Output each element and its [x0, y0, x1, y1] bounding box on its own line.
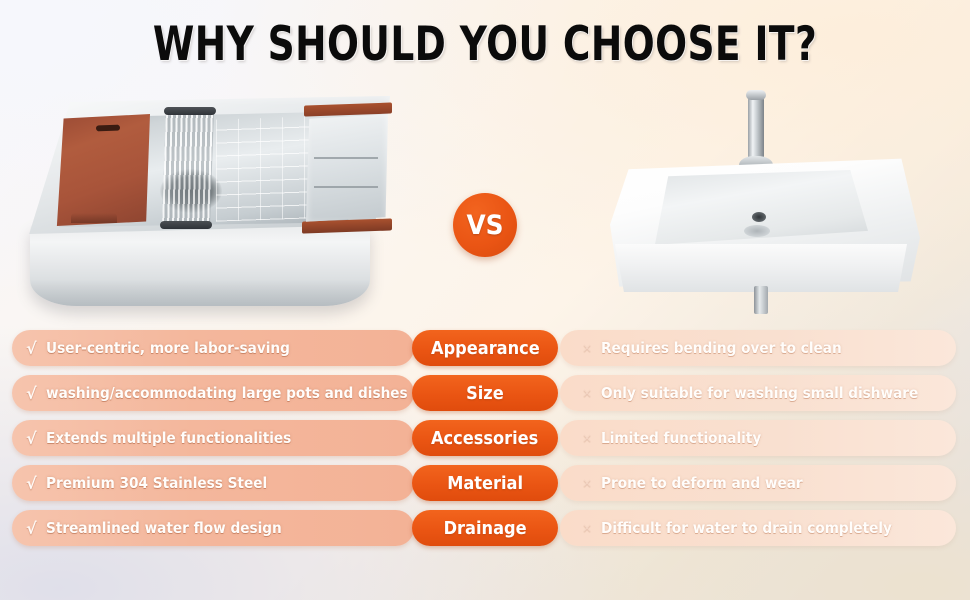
product-image-stainless-sink: [18, 96, 390, 308]
comparison-row: √ Streamlined water flow design Drainage…: [0, 510, 970, 555]
check-icon: √: [26, 384, 37, 403]
wooden-cutting-board: [54, 114, 150, 226]
pro-bar: √ washing/accommodating large pots and d…: [12, 375, 414, 411]
pro-text: Premium 304 Stainless Steel: [46, 474, 267, 492]
con-text: Requires bending over to clean: [601, 339, 842, 357]
category-pill: Size: [412, 375, 558, 411]
roll-up-drying-rack: [162, 110, 214, 226]
check-icon: √: [26, 474, 37, 493]
category-pill: Appearance: [412, 330, 558, 366]
con-text: Difficult for water to drain completely: [601, 519, 892, 537]
page-title: WHY SHOULD YOU CHOOSE IT?: [97, 17, 873, 72]
con-bar: × Requires bending over to clean: [560, 330, 956, 366]
category-label: Drainage: [444, 518, 527, 539]
colander-accessory: [306, 112, 388, 224]
pro-bar: √ Streamlined water flow design: [12, 510, 414, 546]
pro-bar: √ User-centric, more labor-saving: [12, 330, 414, 366]
pro-text: Streamlined water flow design: [46, 519, 282, 537]
check-icon: √: [26, 429, 37, 448]
comparison-table: √ User-centric, more labor-saving Appear…: [0, 330, 970, 555]
faucet-cap: [746, 90, 766, 100]
overflow-hole: [752, 212, 766, 222]
category-label: Accessories: [431, 428, 538, 449]
cross-icon: ×: [582, 386, 592, 400]
vs-badge: VS: [453, 193, 517, 257]
bottom-grid: [216, 116, 310, 221]
con-text: Limited functionality: [601, 429, 761, 447]
cross-icon: ×: [582, 521, 592, 535]
pro-text: Extends multiple functionalities: [46, 429, 291, 447]
category-label: Material: [447, 473, 523, 494]
comparison-row: √ Premium 304 Stainless Steel Material ×…: [0, 465, 970, 510]
con-bar: × Limited functionality: [560, 420, 956, 456]
con-bar: × Only suitable for washing small dishwa…: [560, 375, 956, 411]
pro-text: User-centric, more labor-saving: [46, 339, 290, 357]
cross-icon: ×: [582, 341, 592, 355]
category-label: Appearance: [431, 338, 540, 359]
category-pill: Material: [412, 465, 558, 501]
con-text: Only suitable for washing small dishware: [601, 384, 918, 402]
pro-bar: √ Premium 304 Stainless Steel: [12, 465, 414, 501]
comparison-row: √ Extends multiple functionalities Acces…: [0, 420, 970, 465]
basin-front-face: [612, 244, 910, 292]
comparison-row: √ washing/accommodating large pots and d…: [0, 375, 970, 420]
check-icon: √: [26, 339, 37, 358]
category-pill: Accessories: [412, 420, 558, 456]
cross-icon: ×: [582, 476, 592, 490]
con-bar: × Difficult for water to drain completel…: [560, 510, 956, 546]
product-image-ceramic-basin: [600, 94, 930, 314]
check-icon: √: [26, 519, 37, 538]
infographic-canvas: WHY SHOULD YOU CHOOSE IT? VS √ User-cent…: [0, 0, 970, 600]
drain-pipe: [754, 286, 768, 314]
category-label: Size: [466, 383, 504, 404]
pro-text: washing/accommodating large pots and dis…: [46, 384, 408, 402]
vs-badge-label: VS: [456, 193, 515, 257]
category-pill: Drainage: [412, 510, 558, 546]
pro-bar: √ Extends multiple functionalities: [12, 420, 414, 456]
sink-apron-front: [30, 224, 370, 306]
con-text: Prone to deform and wear: [601, 474, 803, 492]
comparison-row: √ User-centric, more labor-saving Appear…: [0, 330, 970, 375]
cross-icon: ×: [582, 431, 592, 445]
con-bar: × Prone to deform and wear: [560, 465, 956, 501]
